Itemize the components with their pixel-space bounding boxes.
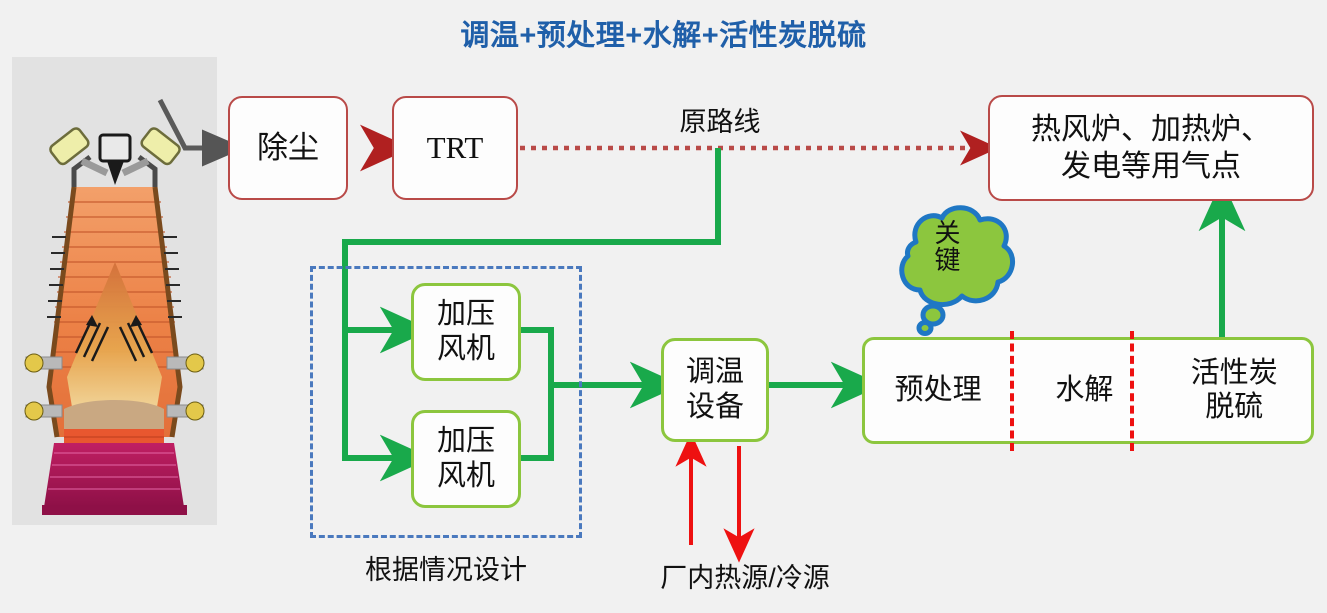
treatment-divider-2 [1130,331,1134,451]
design-note-label: 根据情况设计 [310,548,582,587]
heat-source-label: 厂内热源/冷源 [600,556,890,595]
fan2-line-1: 加压 [437,424,495,459]
fan2-line-2: 风机 [437,459,495,494]
node-temperature-control-equipment[interactable]: 调温 设备 [661,338,769,442]
segment-hydrolysis[interactable]: 水解 [1011,340,1157,441]
consumers-line-2: 发电等用气点 [1031,148,1271,186]
tempctrl-line-2: 设备 [686,390,744,425]
fan1-line-2: 风机 [437,332,495,367]
desulfurization-line-2: 脱硫 [1191,391,1278,424]
node-treatment-train[interactable]: 预处理 水解 活性炭 脱硫 [862,337,1314,444]
node-pressurizing-fan-1[interactable]: 加压 风机 [411,283,521,381]
page-title: 调温+预处理+水解+活性炭脱硫 [0,12,1327,54]
original-route-label: 原路线 [630,100,810,139]
treatment-divider-1 [1010,331,1014,451]
segment-activated-carbon-desulfurization[interactable]: 活性炭 脱硫 [1157,340,1311,441]
node-gas-consumers[interactable]: 热风炉、加热炉、 发电等用气点 [988,95,1314,201]
diagram-canvas: 调温+预处理+水解+活性炭脱硫 [0,0,1327,613]
cloud-text: 关 键 [880,220,1015,275]
cloud-line-2: 键 [880,247,1015,274]
segment-pretreatment[interactable]: 预处理 [865,340,1011,441]
node-pressurizing-fan-2[interactable]: 加压 风机 [411,410,521,508]
node-trt[interactable]: TRT [392,96,518,200]
node-dedust[interactable]: 除尘 [228,96,348,200]
fan1-line-1: 加压 [437,297,495,332]
tempctrl-line-1: 调温 [686,355,744,390]
blast-furnace-illustration [12,57,217,525]
desulfurization-line-1: 活性炭 [1191,357,1278,390]
cloud-line-1: 关 [880,220,1015,247]
consumers-line-1: 热风炉、加热炉、 [1031,111,1271,149]
key-callout-cloud: 关 键 [880,198,1022,338]
